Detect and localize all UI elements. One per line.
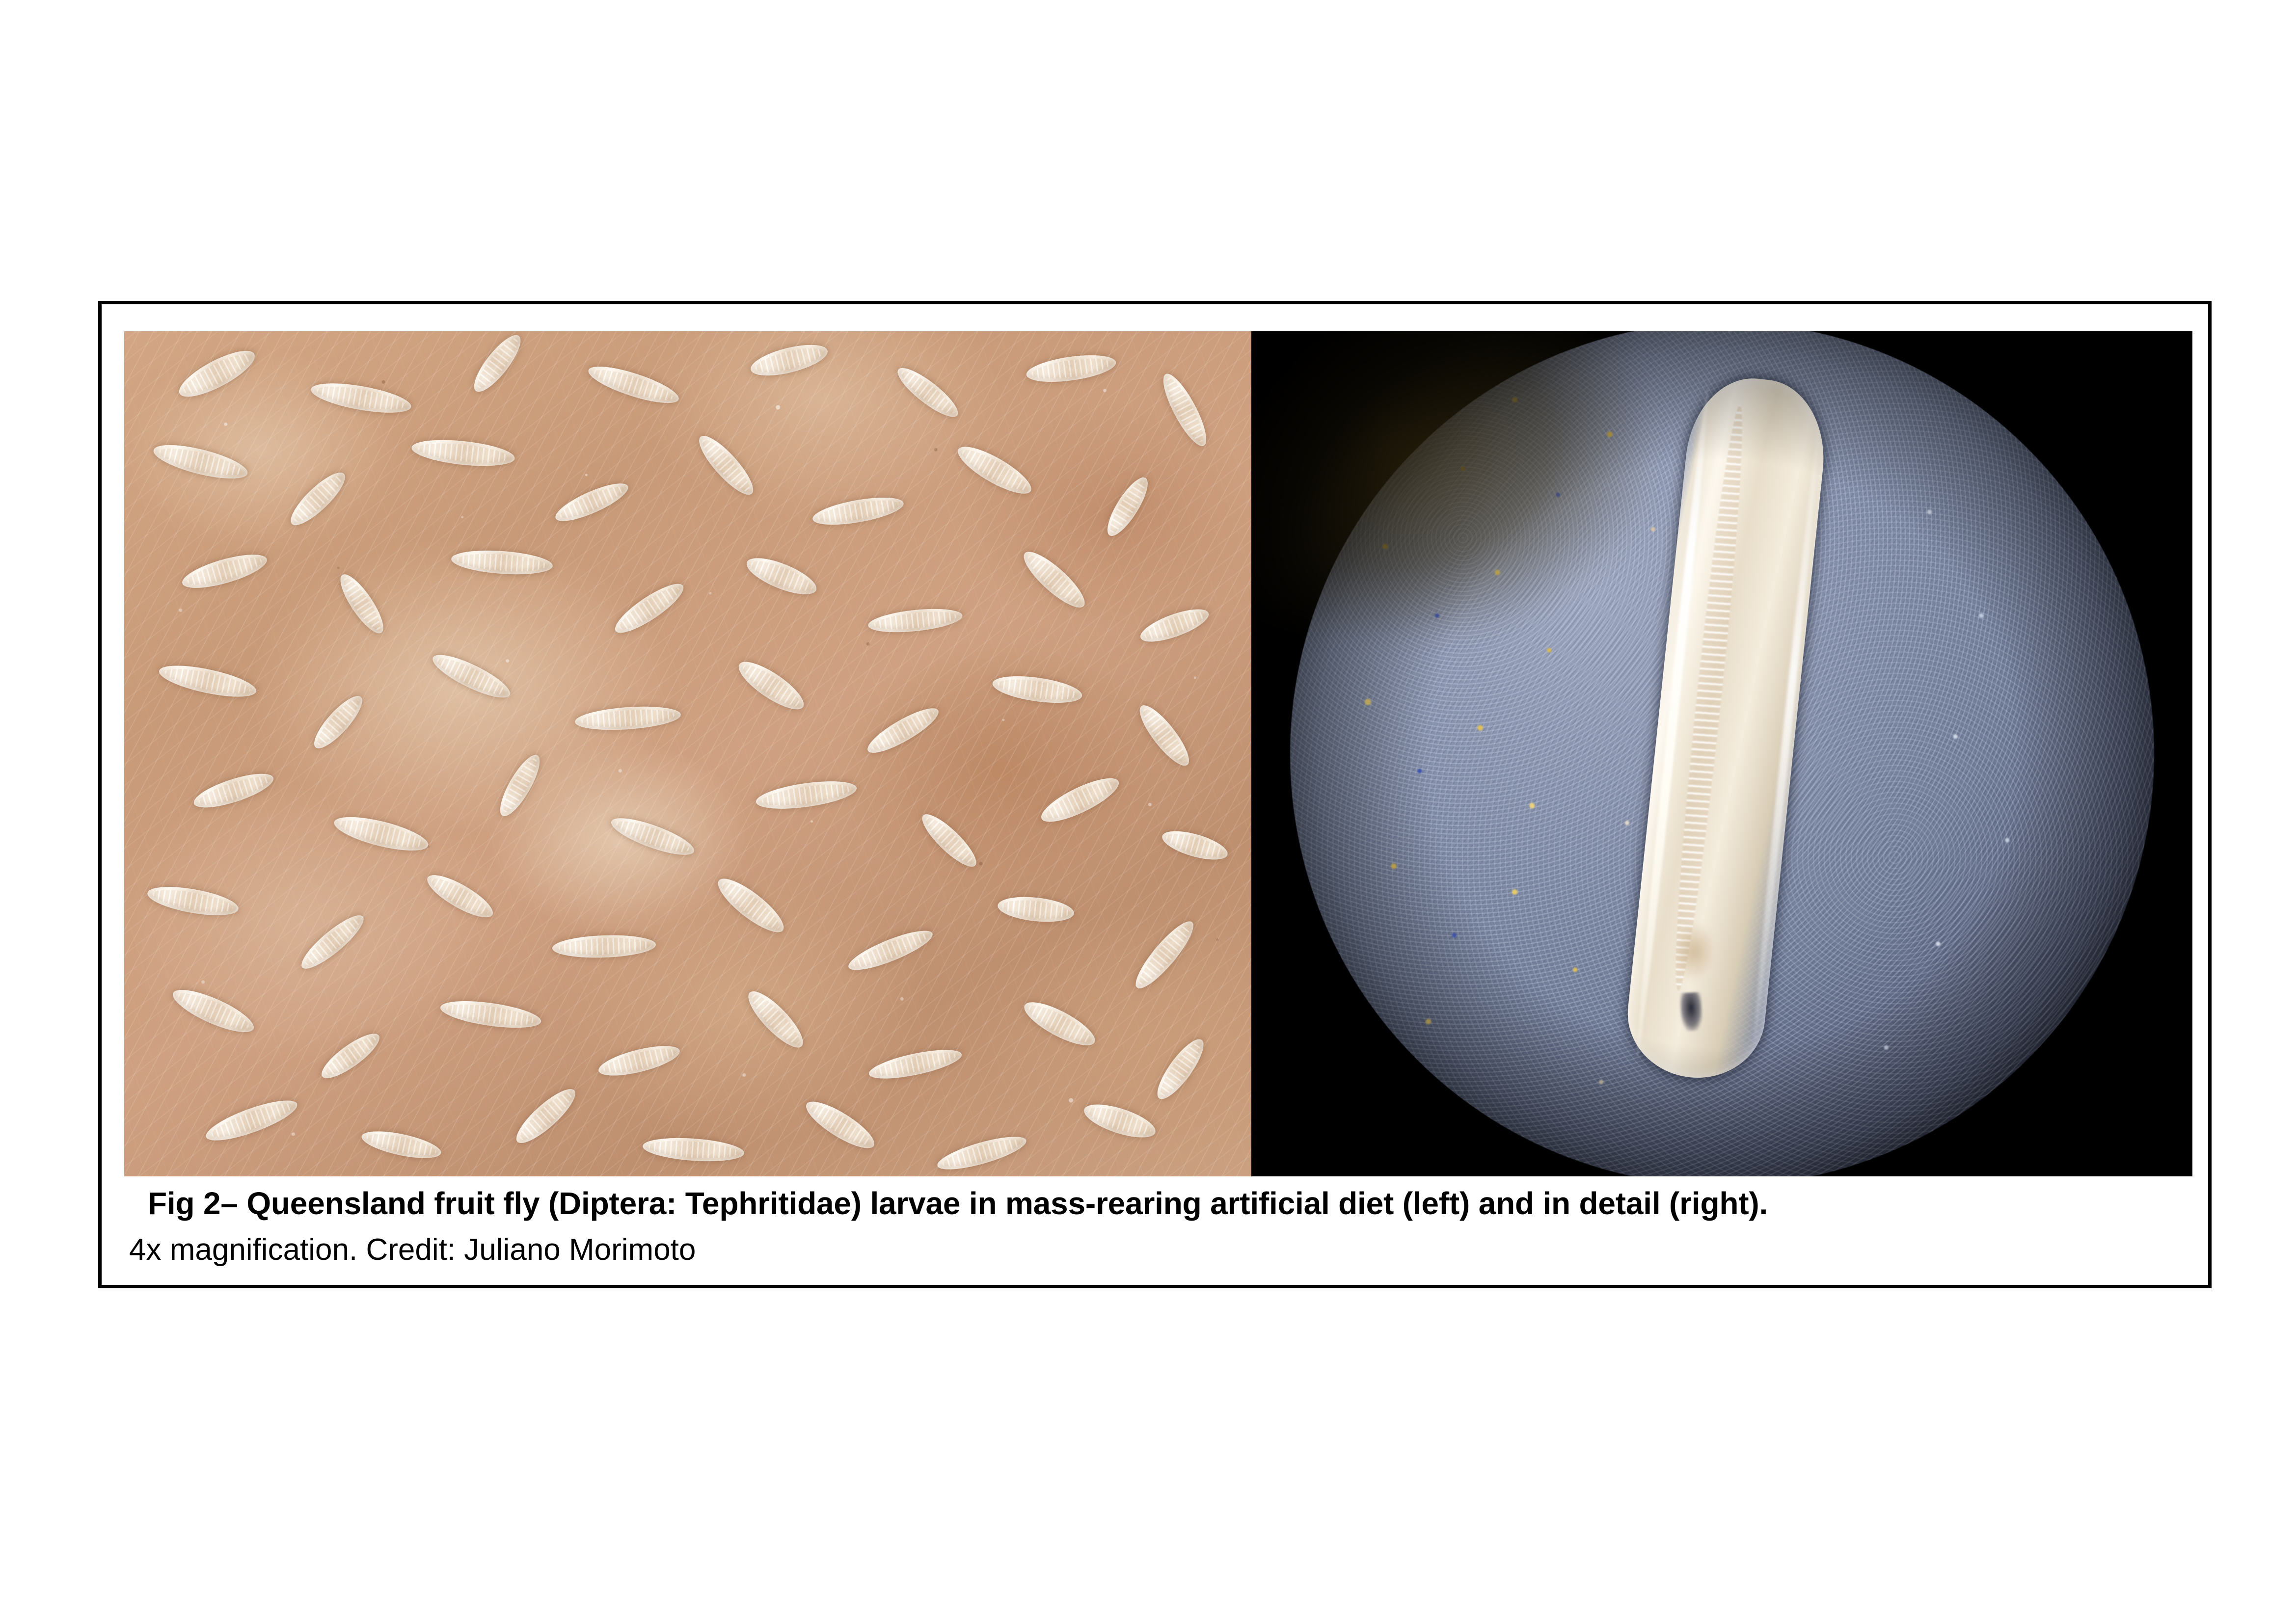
figure-caption-title: Fig 2– Queensland fruit fly (Diptera: Te… [148,1185,2176,1222]
figure-frame: Fig 2– Queensland fruit fly (Diptera: Te… [98,301,2212,1288]
figure-caption-credit: 4x magnification. Credit: Juliano Morimo… [129,1232,2176,1267]
figure-caption: Fig 2– Queensland fruit fly (Diptera: Te… [124,1185,2176,1267]
figure-panel-strip [124,331,2192,1176]
diet-paste-gloss [124,331,1251,1176]
panel-larvae-in-artificial-diet [124,331,1251,1176]
microscope-vignette [1251,331,2192,1176]
panel-larva-detail-micrograph [1251,331,2192,1176]
